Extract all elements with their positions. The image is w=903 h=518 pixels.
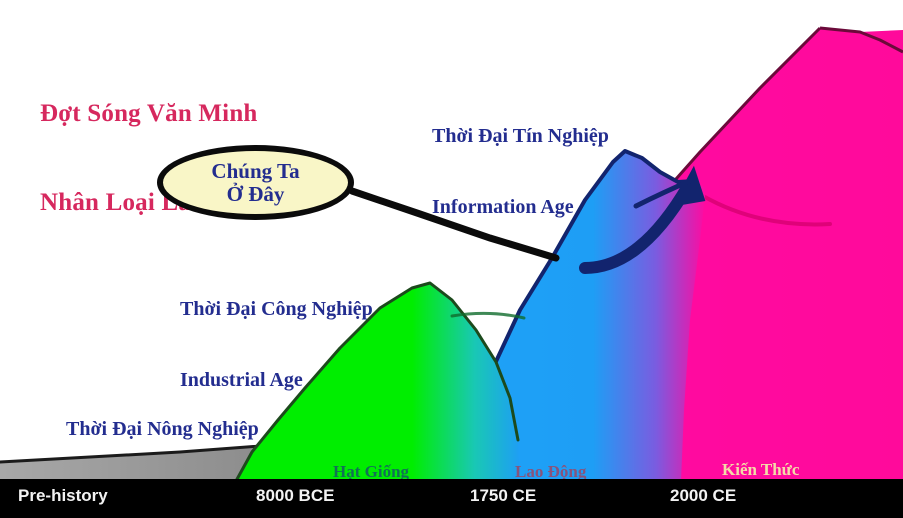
you-are-here-line2: Ở Đây	[227, 183, 285, 206]
label-information-age: Thời Đại Tín Nghiệp Information Age	[432, 78, 609, 267]
you-are-here-callout[interactable]: Chúng Ta Ở Đây	[157, 145, 354, 220]
timeline-tick-prehistory: Pre-history	[18, 486, 108, 506]
label-industrial-age-vi: Thời Đại Công Nghiệp	[180, 298, 373, 322]
page-title-line1: Đợt Sóng Văn Minh	[40, 99, 277, 129]
timeline-axis: Pre-history 8000 BCE 1750 CE 2000 CE	[0, 479, 903, 518]
timeline-tick-8000-bce: 8000 BCE	[256, 486, 334, 506]
label-agricultural-age-vi: Thời Đại Nông Nghiệp	[66, 418, 259, 442]
caption-information-inner-line1: Kiến Thức	[717, 460, 804, 479]
timeline-tick-1750-ce: 1750 CE	[470, 486, 536, 506]
timeline-tick-2000-ce: 2000 CE	[670, 486, 736, 506]
you-are-here-line1: Chúng Ta	[211, 160, 299, 183]
civilization-waves-diagram: Đợt Sóng Văn Minh Nhân Loại Lần Thứ 3 Th…	[0, 0, 903, 518]
you-are-here-callout-text: Chúng Ta Ở Đây	[163, 151, 348, 214]
label-information-age-en: Information Age	[432, 196, 609, 220]
label-information-age-vi: Thời Đại Tín Nghiệp	[432, 125, 609, 149]
